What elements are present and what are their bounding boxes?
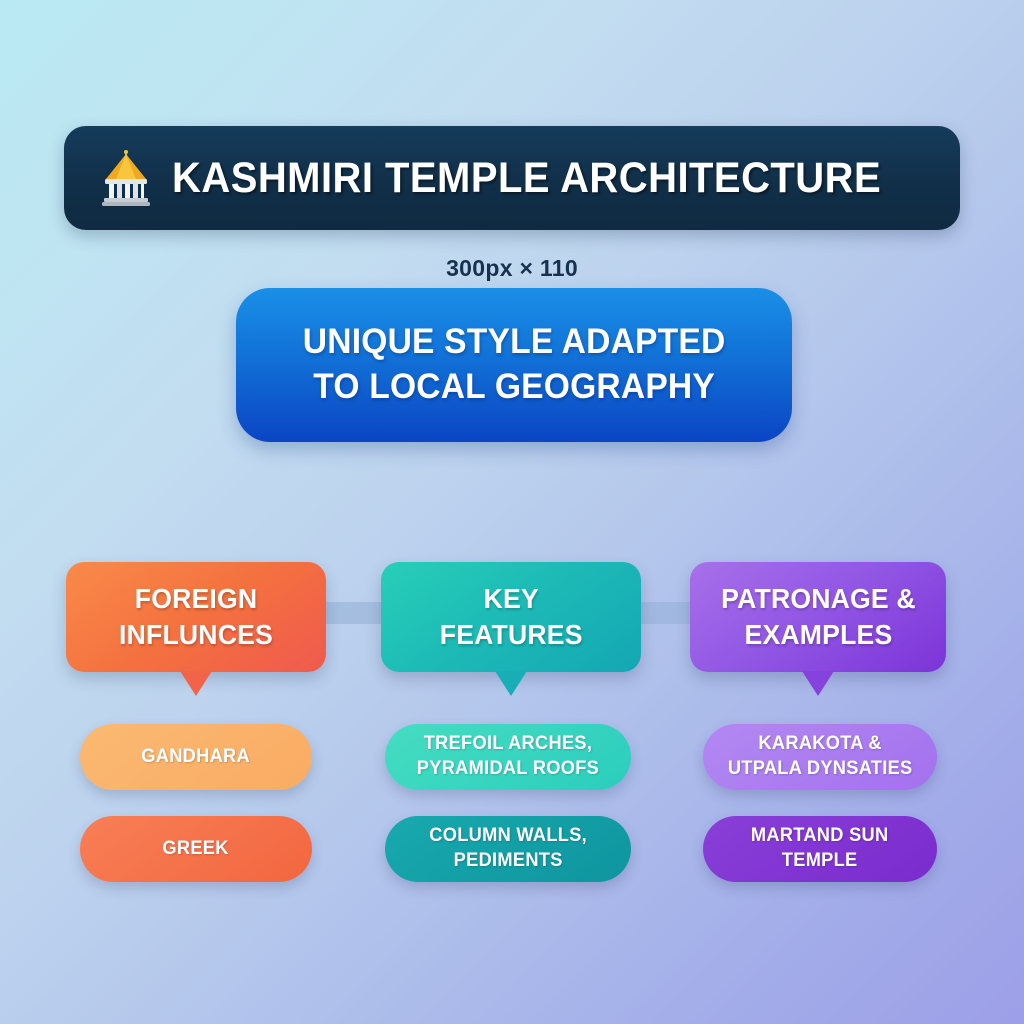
- list-item-line-2: UTPALA DYNSATIES: [728, 758, 913, 779]
- list-item-label: TREFOIL ARCHES, PYRAMIDAL ROOFS: [417, 732, 599, 781]
- list-item-label: MARTAND SUN TEMPLE: [751, 824, 889, 873]
- list-item-label: GANDHARA: [142, 745, 251, 770]
- list-item-line-2: PYRAMIDAL ROOFS: [417, 758, 599, 779]
- list-item-line-2: TEMPLE: [782, 850, 858, 871]
- subtitle-card: UNIQUE STYLE ADAPTED TO LOCAL GEOGRAPHY: [236, 288, 792, 442]
- infographic-canvas: KASHMIRI TEMPLE ARCHITECTURE 300px × 110…: [0, 0, 1024, 1024]
- classical-temple-icon: [100, 149, 152, 207]
- subtitle-text: UNIQUE STYLE ADAPTED TO LOCAL GEOGRAPHY: [303, 320, 726, 410]
- category-header-line-2: INFLUNCES: [119, 619, 273, 650]
- list-item-line-1: TREFOIL ARCHES,: [424, 733, 592, 754]
- category-header-label: PATRONAGE & EXAMPLES: [721, 581, 916, 654]
- list-item[interactable]: TREFOIL ARCHES, PYRAMIDAL ROOFS: [385, 724, 631, 790]
- list-item-line-1: GANDHARA: [142, 746, 251, 767]
- category-header-line-1: PATRONAGE &: [721, 583, 916, 614]
- category-header-foreign-influences[interactable]: FOREIGN INFLUNCES: [66, 562, 326, 672]
- category-header-line-2: FEATURES: [440, 619, 583, 650]
- list-item-label: GREEK: [163, 837, 229, 862]
- list-item-label: KARAKOTA & UTPALA DYNSATIES: [728, 732, 913, 781]
- list-item[interactable]: COLUMN WALLS, PEDIMENTS: [385, 816, 631, 882]
- bubble-tail: [495, 671, 527, 696]
- category-header-line-1: FOREIGN: [135, 583, 258, 614]
- list-item[interactable]: GREEK: [80, 816, 312, 882]
- category-header-label: KEY FEATURES: [440, 581, 583, 654]
- list-item-line-1: GREEK: [163, 838, 229, 859]
- bubble-tail: [180, 671, 212, 696]
- list-item[interactable]: MARTAND SUN TEMPLE: [703, 816, 937, 882]
- category-header-key-features[interactable]: KEY FEATURES: [381, 562, 641, 672]
- list-item-line-2: PEDIMENTS: [453, 850, 562, 871]
- column-key-features: KEY FEATURES TREFOIL ARCHES, PYRAMIDAL R…: [381, 562, 641, 882]
- category-header-line-1: KEY: [483, 583, 538, 614]
- bubble-tail: [802, 671, 834, 696]
- category-header-label: FOREIGN INFLUNCES: [119, 581, 273, 654]
- column-foreign-influences: FOREIGN INFLUNCES GANDHARA GREEK: [66, 562, 326, 882]
- list-item-line-1: MARTAND SUN: [751, 825, 889, 846]
- list-item-label: COLUMN WALLS, PEDIMENTS: [429, 824, 587, 873]
- category-header-line-2: EXAMPLES: [744, 619, 892, 650]
- subtitle-line-1: UNIQUE STYLE ADAPTED: [303, 322, 726, 361]
- page-title: KASHMIRI TEMPLE ARCHITECTURE: [172, 154, 881, 203]
- list-item[interactable]: KARAKOTA & UTPALA DYNSATIES: [703, 724, 937, 790]
- list-item-line-1: KARAKOTA &: [758, 733, 881, 754]
- size-annotation: 300px × 110: [0, 255, 1024, 282]
- list-item[interactable]: GANDHARA: [80, 724, 312, 790]
- subtitle-line-2: TO LOCAL GEOGRAPHY: [313, 367, 715, 406]
- list-item-line-1: COLUMN WALLS,: [429, 825, 587, 846]
- column-patronage-examples: PATRONAGE & EXAMPLES KARAKOTA & UTPALA D…: [690, 562, 946, 882]
- category-header-patronage-examples[interactable]: PATRONAGE & EXAMPLES: [690, 562, 946, 672]
- title-bar: KASHMIRI TEMPLE ARCHITECTURE: [64, 126, 960, 230]
